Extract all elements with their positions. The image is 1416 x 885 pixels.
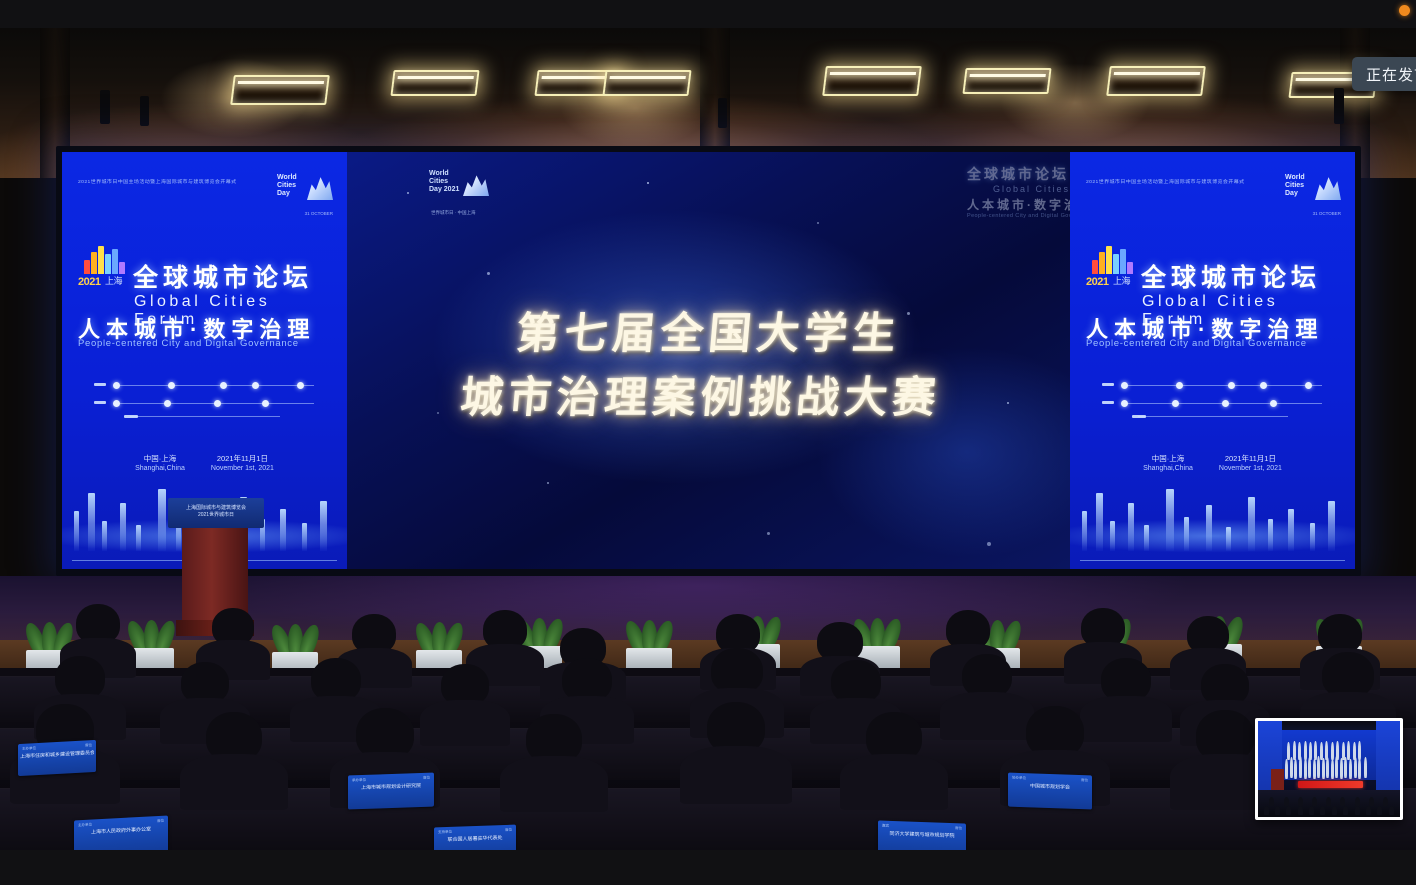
- event-title-line1: 第七届全国大学生: [344, 302, 1073, 366]
- wcd-sub: 世界城市日 · 中国上海: [431, 210, 476, 216]
- forum-city-badge: 上海: [105, 274, 122, 287]
- ceiling-light-fixture: [1106, 66, 1206, 96]
- location-en: Shanghai,China: [1143, 464, 1193, 474]
- world-cities-day-logo: World Cities Day 31 OCTOBER: [277, 172, 335, 214]
- spotlight-rig: [140, 96, 149, 126]
- wcd-mark-icon: [307, 174, 333, 200]
- event-title-line2: 城市治理案例挑战大赛: [328, 366, 1073, 430]
- audience-member: [500, 714, 608, 808]
- led-center-panel: World Cities Day 2021 世界城市日 · 中国上海 全球城市论…: [347, 152, 1070, 569]
- timeline-graphic: [94, 374, 316, 422]
- pip-red-banner: [1298, 781, 1363, 789]
- spotlight-rig: [1334, 88, 1344, 124]
- wcd-line2: Cities: [277, 182, 296, 190]
- forum-name-cn: 全球城市论坛: [133, 265, 313, 292]
- name-placard: 主办单位席位 上海市人民政府外事办公室: [74, 816, 168, 850]
- wcd-line1: World: [429, 170, 507, 178]
- letterbox-bottom-bar: [0, 850, 1416, 885]
- wcd-line1: World: [277, 174, 297, 182]
- spotlight-rig: [718, 98, 727, 128]
- letterbox-top-bar: [0, 0, 1416, 28]
- date-en: November 1st, 2021: [1219, 464, 1282, 474]
- name-placard: 主办单位席位 上海市住房和城乡建设管理委员会: [18, 740, 96, 776]
- forum-city-badge: 上海: [1113, 274, 1130, 287]
- forum-logo-icon: 2021 上海: [78, 244, 124, 292]
- spotlight-rig: [100, 90, 110, 124]
- wcd-sub: 31 OCTOBER: [305, 211, 333, 216]
- pip-audience: [1258, 790, 1400, 817]
- name-placard: 协办单位席位 中国城市规划学会: [1008, 773, 1092, 810]
- ceiling-light-fixture: [822, 66, 922, 96]
- podium-sign-line1: 上海国际城市与建筑博览会: [186, 505, 246, 511]
- location-cn: 中国·上海: [1143, 454, 1193, 464]
- podium-sign-line2: 2021世界城市日: [198, 512, 234, 518]
- speaking-status-badge[interactable]: 正在发言: [1352, 57, 1416, 91]
- name-placard: 支持单位席位 联合国人居署驻华代表处: [434, 825, 516, 850]
- wcd-sub: 31 OCTOBER: [1313, 211, 1341, 216]
- audience-member: [680, 702, 792, 800]
- panel-footer: 中国·上海 Shanghai,China 2021年11月1日 November…: [62, 454, 347, 474]
- date-en: November 1st, 2021: [211, 464, 274, 474]
- podium-top: 上海国际城市与建筑博览会 2021世界城市日: [168, 498, 264, 528]
- pip-podium: [1271, 769, 1284, 790]
- forum-name-cn: 全球城市论坛: [1141, 265, 1321, 292]
- wcd-line2: Cities: [1285, 182, 1304, 190]
- main-video-feed[interactable]: World Cities Day 2021 世界城市日 · 中国上海 全球城市论…: [0, 28, 1416, 850]
- podium-sign: 上海国际城市与建筑博览会 2021世界城市日: [176, 505, 256, 519]
- forum-slogan-en: People-centered City and Digital Governa…: [78, 338, 299, 349]
- world-cities-day-logo: World Cities Day 31 OCTOBER: [1285, 172, 1343, 214]
- audience-member: [840, 712, 948, 806]
- forum-slogan-en: People-centered City and Digital Governa…: [1086, 338, 1307, 349]
- audience-member: [180, 712, 288, 806]
- date-cn: 2021年11月1日: [211, 454, 274, 464]
- forum-year-badge: 2021: [1086, 276, 1108, 288]
- forum-year-badge: 2021: [78, 276, 100, 288]
- ceiling-light-fixture: [962, 68, 1051, 94]
- pip-video: [1258, 721, 1400, 817]
- picture-in-picture-thumbnail[interactable]: [1255, 718, 1403, 820]
- recording-indicator-icon[interactable]: [1399, 5, 1410, 16]
- panel-footer: 中国·上海 Shanghai,China 2021年11月1日 November…: [1070, 454, 1355, 474]
- ceiling-light-fixture: [602, 70, 691, 96]
- ceiling-light-fixture: [230, 75, 330, 105]
- led-right-panel: 2021世界城市日中国主场活动暨上海国际城市与建筑博览会开幕式 World Ci…: [1070, 152, 1355, 569]
- panel-bottom-rule: [1080, 560, 1345, 561]
- video-conference-stage: World Cities Day 2021 世界城市日 · 中国上海 全球城市论…: [0, 0, 1416, 885]
- ceiling-light-fixture: [390, 70, 479, 96]
- skyline-graphic: [1070, 477, 1355, 569]
- timeline-graphic: [1102, 374, 1324, 422]
- date-cn: 2021年11月1日: [1219, 454, 1282, 464]
- event-title: 第七届全国大学生 城市治理案例挑战大赛: [347, 302, 1070, 430]
- forum-logo-icon: 2021 上海: [1086, 244, 1132, 292]
- location-en: Shanghai,China: [135, 464, 185, 474]
- speaking-status-label: 正在发言: [1366, 64, 1416, 85]
- world-cities-day-logo-center: World Cities Day 2021 世界城市日 · 中国上海: [429, 170, 507, 216]
- wcd-line1: World: [1285, 174, 1305, 182]
- name-placard: 嘉宾席位 同济大学建筑与城市规划学院: [878, 820, 966, 850]
- name-placard: 承办单位席位 上海市城市规划设计研究院: [348, 772, 434, 809]
- wcd-line3: Day: [1285, 190, 1298, 198]
- wcd-mark-icon: [1315, 174, 1341, 200]
- wcd-line3: Day: [277, 190, 290, 198]
- location-cn: 中国·上海: [135, 454, 185, 464]
